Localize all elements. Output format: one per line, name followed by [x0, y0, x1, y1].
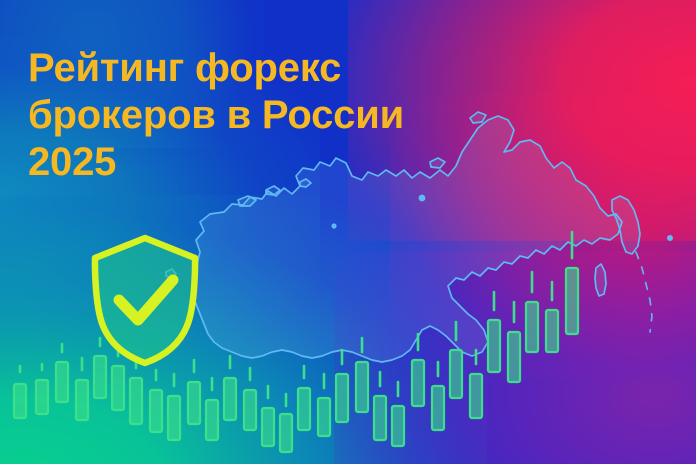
shield-check-icon [83, 232, 207, 368]
candle-body [298, 388, 310, 430]
candle-body [36, 380, 48, 414]
candle-body [526, 302, 538, 352]
candle-body [188, 382, 200, 424]
candle-body [112, 366, 124, 410]
candle-body [318, 398, 330, 436]
candle-body [168, 396, 180, 440]
candle-body [356, 362, 368, 412]
candle-body [262, 408, 274, 446]
candle-body [392, 406, 404, 446]
candle-body [56, 362, 68, 402]
candle-body [470, 374, 482, 418]
page-title: Рейтинг форекс брокеров в России 2025 [28, 45, 498, 185]
candle-body [566, 268, 578, 334]
candle-body [508, 332, 520, 382]
candle-body [488, 320, 500, 372]
candle-body [412, 360, 424, 406]
candle-body [336, 374, 348, 422]
candle-body [280, 414, 292, 452]
candle-body [206, 400, 218, 440]
forex-rating-banner: Рейтинг форекс брокеров в России 2025 [0, 0, 696, 464]
candle-body [450, 350, 462, 398]
candle-body [546, 310, 558, 352]
candle-body [130, 378, 142, 424]
candle-body [14, 384, 26, 418]
candle-body [244, 390, 256, 430]
candle-body [432, 386, 444, 430]
candle-body [374, 396, 386, 440]
candle-body [150, 390, 162, 432]
candle-body [76, 380, 88, 420]
candle-body [224, 378, 236, 420]
